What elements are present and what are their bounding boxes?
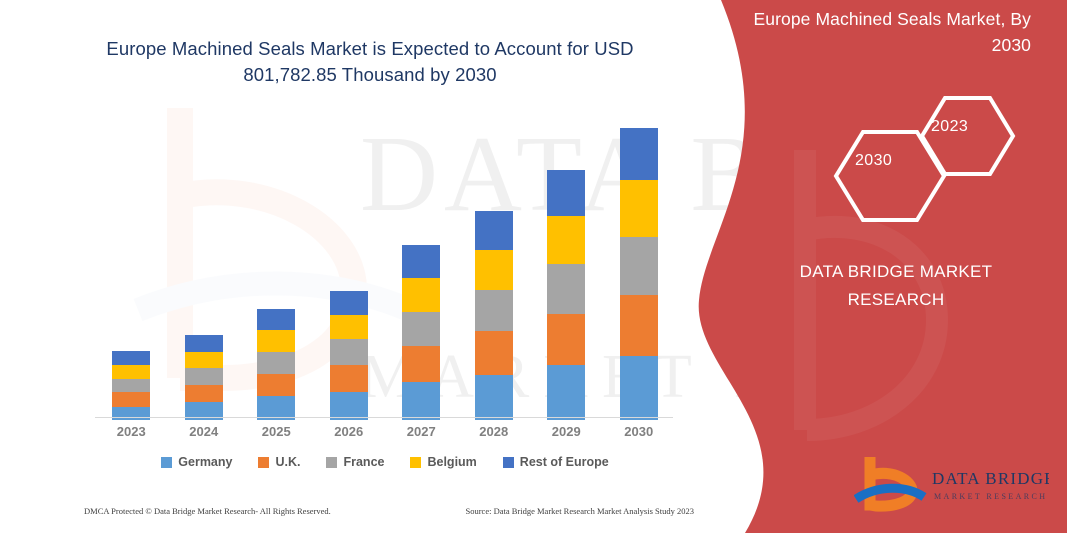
legend-item-rest-of-europe[interactable]: Rest of Europe bbox=[503, 455, 609, 469]
x-axis-label-2026: 2026 bbox=[313, 424, 385, 439]
legend-swatch-icon bbox=[161, 457, 172, 468]
x-axis-label-2029: 2029 bbox=[530, 424, 602, 439]
bar-segment-rest-of-europe bbox=[185, 335, 223, 352]
bar-segment-france bbox=[330, 339, 368, 365]
brand-line-2: RESEARCH bbox=[761, 286, 1031, 314]
x-axis-line bbox=[95, 417, 673, 418]
bar-2023 bbox=[112, 351, 150, 420]
x-axis-labels: 20232024202520262027202820292030 bbox=[95, 424, 675, 446]
bar-segment-germany bbox=[402, 382, 440, 420]
legend-item-france[interactable]: France bbox=[326, 455, 384, 469]
bar-segment-rest-of-europe bbox=[257, 309, 295, 330]
bar-segment-france bbox=[547, 264, 585, 314]
hexagon-group: 2030 2023 bbox=[827, 92, 1037, 222]
x-axis-label-2023: 2023 bbox=[95, 424, 167, 439]
legend-label: U.K. bbox=[275, 455, 300, 469]
x-axis-label-2024: 2024 bbox=[168, 424, 240, 439]
bar-segment-belgium bbox=[620, 180, 658, 237]
bar-chart-plot bbox=[95, 110, 675, 420]
legend-item-belgium[interactable]: Belgium bbox=[410, 455, 476, 469]
footer-copyright: DMCA Protected © Data Bridge Market Rese… bbox=[84, 506, 331, 516]
hexagon-2023-label: 2023 bbox=[931, 118, 968, 136]
hexagon-2030-label: 2030 bbox=[855, 152, 892, 170]
bar-segment-germany bbox=[475, 375, 513, 420]
legend-label: Germany bbox=[178, 455, 232, 469]
bar-segment-u-k- bbox=[475, 331, 513, 374]
bar-segment-rest-of-europe bbox=[620, 128, 658, 181]
bar-segment-france bbox=[257, 352, 295, 374]
brand-name: DATA BRIDGE MARKET RESEARCH bbox=[761, 258, 1031, 314]
bar-2026 bbox=[330, 291, 368, 420]
legend-swatch-icon bbox=[503, 457, 514, 468]
bar-segment-france bbox=[112, 379, 150, 392]
bar-segment-belgium bbox=[257, 330, 295, 352]
bar-2025 bbox=[257, 309, 295, 420]
bar-segment-u-k- bbox=[330, 365, 368, 392]
bar-segment-france bbox=[402, 312, 440, 346]
data-bridge-logo: DATA BRIDGE MARKET RESEARCH bbox=[854, 457, 1049, 515]
legend-swatch-icon bbox=[258, 457, 269, 468]
bar-segment-rest-of-europe bbox=[112, 351, 150, 365]
bar-segment-rest-of-europe bbox=[547, 170, 585, 216]
bar-segment-france bbox=[475, 290, 513, 331]
bar-2028 bbox=[475, 211, 513, 420]
bar-2027 bbox=[402, 245, 440, 420]
chart-title: Europe Machined Seals Market is Expected… bbox=[60, 36, 680, 88]
bar-segment-u-k- bbox=[185, 385, 223, 403]
bar-segment-rest-of-europe bbox=[330, 291, 368, 315]
bar-segment-rest-of-europe bbox=[402, 245, 440, 278]
infographic-root: DATA BRIDGE MARKET RESEARCH Europe Machi… bbox=[0, 0, 1067, 533]
footer: DMCA Protected © Data Bridge Market Rese… bbox=[84, 506, 694, 516]
legend-label: France bbox=[343, 455, 384, 469]
bar-segment-germany bbox=[330, 392, 368, 420]
bar-segment-belgium bbox=[112, 365, 150, 378]
bar-segment-belgium bbox=[547, 216, 585, 264]
bar-segment-belgium bbox=[330, 315, 368, 340]
bar-segment-u-k- bbox=[620, 295, 658, 356]
legend-item-u-k-[interactable]: U.K. bbox=[258, 455, 300, 469]
bar-segment-france bbox=[185, 368, 223, 385]
bar-segment-france bbox=[620, 237, 658, 295]
chart-legend: GermanyU.K.FranceBelgiumRest of Europe bbox=[95, 455, 675, 469]
bar-segment-u-k- bbox=[257, 374, 295, 397]
x-axis-label-2027: 2027 bbox=[385, 424, 457, 439]
bar-2024 bbox=[185, 335, 223, 420]
legend-label: Belgium bbox=[427, 455, 476, 469]
legend-swatch-icon bbox=[410, 457, 421, 468]
x-axis-label-2028: 2028 bbox=[458, 424, 530, 439]
bar-segment-rest-of-europe bbox=[475, 211, 513, 249]
bar-2030 bbox=[620, 128, 658, 420]
bar-segment-u-k- bbox=[547, 314, 585, 366]
logo-text-secondary: MARKET RESEARCH bbox=[934, 492, 1047, 501]
brand-line-1: DATA BRIDGE MARKET bbox=[761, 258, 1031, 286]
bar-segment-germany bbox=[547, 365, 585, 420]
panel-title: Europe Machined Seals Market, By 2030 bbox=[741, 6, 1031, 58]
legend-label: Rest of Europe bbox=[520, 455, 609, 469]
footer-source: Source: Data Bridge Market Research Mark… bbox=[465, 506, 694, 516]
bar-2029 bbox=[547, 170, 585, 420]
bar-segment-germany bbox=[620, 356, 658, 420]
bar-segment-belgium bbox=[475, 250, 513, 290]
x-axis-label-2030: 2030 bbox=[603, 424, 675, 439]
legend-swatch-icon bbox=[326, 457, 337, 468]
logo-text-primary: DATA BRIDGE bbox=[932, 469, 1049, 488]
bar-segment-belgium bbox=[402, 278, 440, 311]
bar-segment-belgium bbox=[185, 352, 223, 369]
bar-segment-u-k- bbox=[112, 392, 150, 406]
legend-item-germany[interactable]: Germany bbox=[161, 455, 232, 469]
bar-segment-u-k- bbox=[402, 346, 440, 382]
x-axis-label-2025: 2025 bbox=[240, 424, 312, 439]
